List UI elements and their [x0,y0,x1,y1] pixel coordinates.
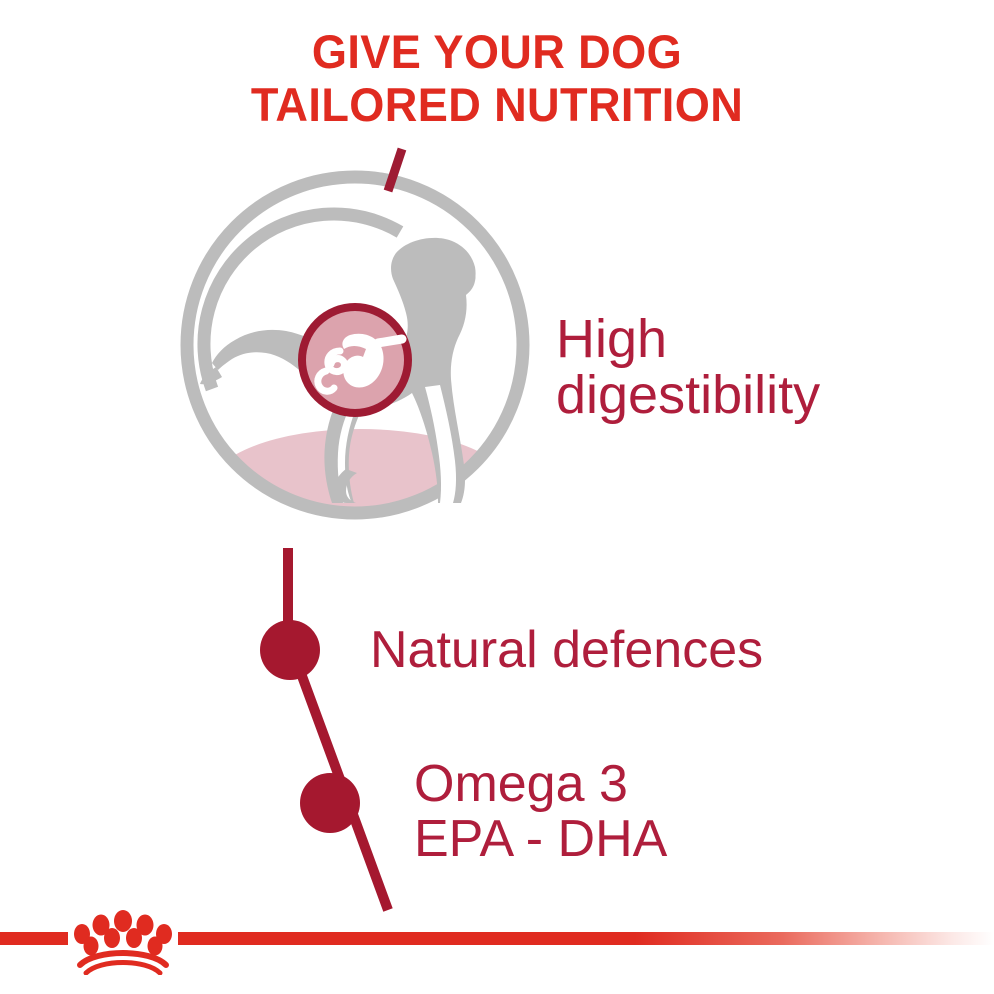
royal-canin-crown-logo [68,899,178,975]
connector-dot-defences [260,620,320,680]
dog-illustration [150,135,580,565]
stomach-digestion-badge [302,307,408,413]
footer-rule-left [0,932,68,945]
connector-dot-omega [300,773,360,833]
headline-line-2: TAILORED NUTRITION [20,79,974,132]
benefit-line: Natural defences [370,624,763,676]
infographic-page: GIVE YOUR DOG TAILORED NUTRITION [0,0,994,994]
connector-path [288,548,388,910]
footer-rule-right [178,932,994,945]
benefit-connector [150,520,450,920]
benefit-line: digestibility [556,368,820,424]
page-title: GIVE YOUR DOG TAILORED NUTRITION [20,26,974,131]
headline-line-1: GIVE YOUR DOG [20,26,974,79]
benefit-label-high-digestibility: High digestibility [556,312,820,423]
benefit-line: EPA - DHA [414,812,667,867]
footer [0,926,994,948]
benefit-label-omega-3: Omega 3 EPA - DHA [414,757,667,866]
benefit-line: Omega 3 [414,757,667,812]
benefit-label-natural-defences: Natural defences [370,624,763,676]
benefit-line: High [556,312,820,368]
